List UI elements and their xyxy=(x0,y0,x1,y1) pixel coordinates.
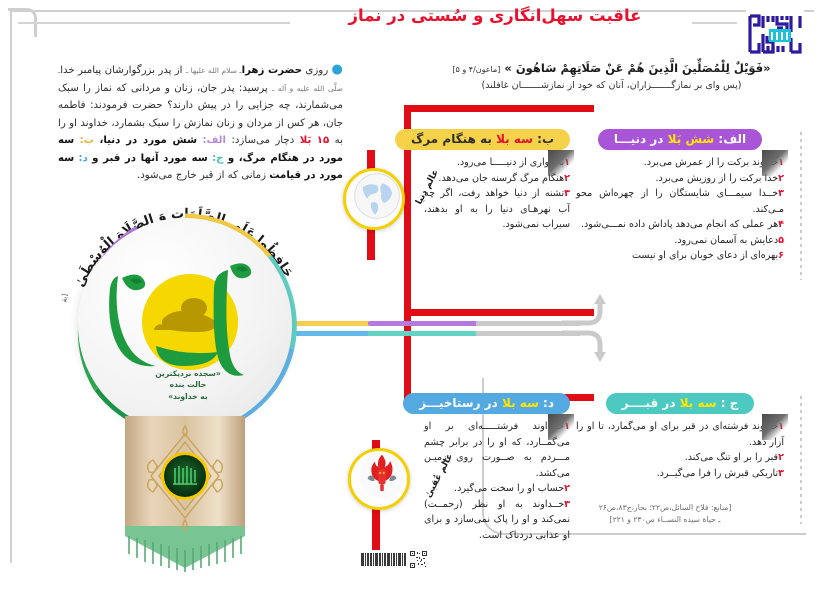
intro-alef-text: شش مورد در دنیا، xyxy=(99,135,197,146)
intro-key-dal: د: xyxy=(79,153,88,164)
card-jim-items: ۱خداوند فرشته‌ای در قبر برای او می‌گمارد… xyxy=(576,419,784,481)
list-item: ۳خــداوند به او نظر (رحمــت) نمی‌کند و ا… xyxy=(424,497,570,544)
intro-honorific-1: ـ سلام الله علیها ـ xyxy=(186,66,242,75)
list-item: ۶بهره‌ای از دعای خوبان برای او نیست xyxy=(576,248,784,264)
card-be: ب: سه بلا به هنگام مرگ ۱با خواری از دنیـ… xyxy=(424,128,570,233)
dotted-divider-bottom xyxy=(800,394,802,524)
infographic-page: عاقبت سهل‌انگاری و سُستی در نماز «فَوَيْ… xyxy=(0,0,824,573)
item-text: تشنه از دنیا خواهد رفت، اگر چه آب نهرهـا… xyxy=(424,188,570,230)
source-citation: [منابع: فلاح السائل،ص۲۲؛ بحار،ج۸۳،ص۲۶ ـ … xyxy=(550,502,780,526)
card-be-title-b: بلا xyxy=(496,132,510,146)
card-jim-fold xyxy=(762,414,788,440)
card-jim-title-a: سه xyxy=(697,396,716,410)
card-be-fold xyxy=(548,150,574,176)
card-alef-title-c: در دنیـــا xyxy=(614,132,664,146)
item-text: دعایش به آسمان نمی‌رود. xyxy=(674,235,778,246)
source-line-1: [منابع: فلاح السائل،ص۲۲؛ بحار،ج۸۳،ص۲۶ xyxy=(550,502,780,514)
intro-paragraph: ● روزی حضرت زهراـ سلام الله علیها ـ از پ… xyxy=(58,62,343,185)
card-be-title-c: به هنگام مرگ xyxy=(411,132,492,146)
qr-code-icon xyxy=(410,551,427,568)
card-dal-title-c: در رستاخیـــز xyxy=(419,396,498,410)
list-item: ۳خــدا سیمـــای شایستگان را از چهره‌اش م… xyxy=(576,186,784,217)
sun-caption-line-3: به خداوند» xyxy=(128,391,248,402)
intro-text-3: دچار می‌سازد: xyxy=(231,135,294,146)
bismillah-kufic-logo xyxy=(744,8,806,60)
sun-caption: «سجده نزدیکترین حالت بنده به خداوند» xyxy=(128,368,248,402)
prayer-banner xyxy=(115,416,255,591)
list-item: ۲قبر را بر او تنگ می‌کند. xyxy=(576,450,784,466)
item-number: ۵ xyxy=(778,235,784,246)
page-title: عاقبت سهل‌انگاری و سُستی در نماز xyxy=(300,6,690,25)
card-dal-title-b: بلا xyxy=(502,396,516,410)
item-text: خــدا سیمـــای شایستگان را از چهره‌اش مح… xyxy=(576,188,784,215)
item-number: ۳ xyxy=(778,188,784,199)
card-alef-fold xyxy=(762,150,788,176)
connector-arrows xyxy=(560,292,620,364)
card-alef-items: ۱خداوند برکت را از عمرش می‌برد. ۲خدا برک… xyxy=(576,155,784,264)
connector-purple xyxy=(368,321,478,326)
list-item: ۴هر عملی که انجام می‌دهد پاداش داده نمــ… xyxy=(576,217,784,233)
item-text: خداوند فرشته‌ای در قبر برای او می‌گمارد،… xyxy=(576,421,784,448)
quran-verse-block: «فَوَيْلٌ لِلْمُصَلِّينَ الَّذِينَ هُمْ … xyxy=(439,60,784,93)
verse-arabic: «فَوَيْلٌ لِلْمُصَلِّينَ الَّذِينَ هُمْ … xyxy=(504,61,770,75)
verse-persian: (پس وای بر نمازگـــــــزاران، آنان که خو… xyxy=(439,78,784,93)
intro-key-be: ب: xyxy=(80,135,94,146)
item-number: ۲ xyxy=(564,483,570,494)
card-alef-title-b: بَلا xyxy=(668,132,682,146)
item-number: ۶ xyxy=(778,250,784,261)
item-text: خداوند برکت را از عمرش می‌برد. xyxy=(644,157,778,168)
item-text: خدا برکت را از روزیش می‌برد. xyxy=(655,173,778,184)
bullet-dot: ● xyxy=(332,62,344,77)
verse-reference: [ماعون/۴ و ۵] xyxy=(452,65,500,74)
fire-devil-icon xyxy=(348,448,410,510)
card-jim-title-c: در قبــــر xyxy=(622,396,676,410)
bracket-top-arm xyxy=(404,105,594,112)
intro-jim-text: سه مورد آنها در قبر و xyxy=(92,153,208,164)
intro-bala: بَلا xyxy=(300,135,312,146)
card-jim-header: ج : سه بلا در قبــــر xyxy=(606,393,755,414)
item-number: ۴ xyxy=(778,219,784,230)
connector-teal xyxy=(368,331,478,336)
list-item: ۳تشنه از دنیا خواهد رفت، اگر چه آب نهرهـ… xyxy=(424,186,570,233)
intro-lead: روزی xyxy=(305,65,328,76)
card-be-letter: ب: xyxy=(537,132,554,146)
item-text: بهره‌ای از دعای خوبان برای او نیست xyxy=(632,250,778,261)
item-number: ۲ xyxy=(778,452,784,463)
card-alef-title-a: شش xyxy=(685,132,714,146)
bracket-bottom-stem xyxy=(404,316,411,401)
sun-caption-line-2: حالت بنده xyxy=(128,379,248,390)
prayer-emblem: حَافِظُوا عَلَى الصَّلَوَاتِ وَ الصَّلَا… xyxy=(60,178,310,558)
intro-key-jim: ج: xyxy=(212,153,223,164)
list-item: ۱خداوند فرشته‌ای در قبر برای او می‌گمارد… xyxy=(576,419,784,450)
item-text: هنگام مرگ گرسنه جان می‌دهد. xyxy=(438,173,564,184)
card-jim-title-b: بلا xyxy=(680,396,694,410)
globe-icon xyxy=(343,168,405,230)
verse-arabic-line: «فَوَيْلٌ لِلْمُصَلِّينَ الَّذِينَ هُمْ … xyxy=(439,60,784,77)
list-item: ۳تاریکی قبرش را فرا می‌گیــرد. xyxy=(576,466,784,482)
card-alef-letter: الف: xyxy=(718,132,746,146)
card-alef: الف: شش بَلا در دنیـــا ۱خداوند برکت را … xyxy=(576,128,784,264)
item-text: هر عملی که انجام می‌دهد پاداش داده نمـــ… xyxy=(581,219,778,230)
title-rule-left xyxy=(18,22,290,24)
intro-name-zahra: حضرت زهرا xyxy=(242,65,302,76)
card-be-header: ب: سه بلا به هنگام مرگ xyxy=(395,129,570,150)
item-text: قبر را بر او تنگ می‌کند. xyxy=(685,452,778,463)
card-dal-letter: د: xyxy=(543,396,554,410)
intro-count: ۱۵ xyxy=(317,135,329,146)
dotted-divider-top xyxy=(800,130,802,280)
source-line-2: ـ حیاة سیده النســاء ص۲۳۰ و ۲۲۱] xyxy=(550,514,780,526)
list-item: ۲حساب او را سخت می‌گیرد. xyxy=(424,481,570,497)
card-dal-fold xyxy=(548,414,574,440)
sun-caption-line-1: «سجده نزدیکترین xyxy=(128,368,248,379)
svg-text:[بقره/۲۳۸]: [بقره/۲۳۸] xyxy=(60,186,69,304)
item-number: ۳ xyxy=(778,468,784,479)
card-dal-header: د: سه بلا در رستاخیـــز xyxy=(403,393,570,414)
list-item: ۲خدا برکت را از روزیش می‌برد. xyxy=(576,171,784,187)
qr-barcode-group xyxy=(302,551,427,568)
item-text: خــداوند به او نظر (رحمــت) نمی‌کند و او… xyxy=(424,499,570,541)
card-jim: ج : سه بلا در قبــــر ۱خداوند فرشته‌ای د… xyxy=(576,392,784,481)
intro-key-alef: الف: xyxy=(202,135,226,146)
list-item: ۱خداوند برکت را از عمرش می‌برد. xyxy=(576,155,784,171)
card-dal-title-a: سه xyxy=(520,396,539,410)
item-text: تاریکی قبرش را فرا می‌گیــرد. xyxy=(657,468,779,479)
frame-left-rule xyxy=(10,10,12,563)
card-be-title-a: سه xyxy=(514,132,533,146)
barcode xyxy=(348,553,406,566)
item-number: ۳ xyxy=(564,188,570,199)
card-alef-header: الف: شش بَلا در دنیـــا xyxy=(598,129,762,150)
intro-text-1: از پدر بزرگوارشان پیامبر خدا xyxy=(60,65,182,76)
card-jim-letter: ج : xyxy=(721,396,739,410)
list-item: ۵دعایش به آسمان نمی‌رود. xyxy=(576,233,784,249)
title-rule-right xyxy=(692,22,737,24)
item-text: حساب او را سخت می‌گیرد. xyxy=(454,483,564,494)
